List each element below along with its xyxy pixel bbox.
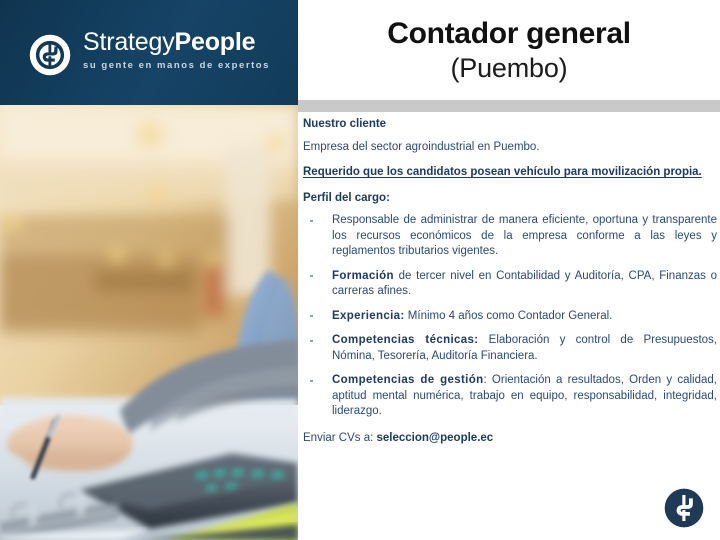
list-item-label: Competencias de gestión	[332, 374, 483, 386]
title-block: Contador general (Puembo)	[298, 0, 720, 100]
list-item: Experiencia: Mínimo 4 años como Contador…	[303, 309, 717, 325]
client-text: Empresa del sector agroindustrial en Pue…	[303, 140, 717, 155]
list-item: Competencias técnicas: Elaboración y con…	[303, 333, 717, 364]
footer-logo-icon	[663, 487, 705, 529]
brand-name-strategy: Strategy	[83, 28, 175, 56]
list-item-label: Formación	[332, 270, 394, 282]
client-heading: Nuestro cliente	[303, 117, 717, 131]
profile-heading: Perfil del cargo:	[303, 191, 717, 205]
brand-header-panel: StrategyPeople su gente en manos de expe…	[0, 0, 298, 105]
vehicle-requirement: Requerido que los candidatos posean vehí…	[303, 164, 717, 181]
job-details: Nuestro cliente Empresa del sector agroi…	[303, 117, 717, 532]
list-item-label: Competencias técnicas:	[332, 334, 478, 346]
page-subtitle: (Puembo)	[451, 52, 568, 85]
brand-wordmark: StrategyPeople su gente en manos de expe…	[83, 29, 298, 73]
brand-tagline: su gente en manos de expertos	[83, 60, 270, 71]
accounting-desk-photo	[0, 105, 298, 540]
brand-name: StrategyPeople	[83, 28, 255, 56]
brand-name-people: People	[175, 28, 256, 56]
contact-email[interactable]: seleccion@people.ec	[377, 432, 494, 444]
brand-logo: StrategyPeople su gente en manos de expe…	[0, 29, 298, 77]
list-item-label: Experiencia:	[332, 310, 405, 322]
send-cv-line: Enviar CVs a: seleccion@people.ec	[303, 431, 717, 446]
list-item: Responsable de administrar de manera efi…	[303, 213, 717, 260]
strategy-people-logo-icon	[28, 33, 72, 77]
page-title: Contador general	[387, 16, 631, 52]
list-item: Formación de tercer nivel en Contabilida…	[303, 269, 717, 300]
requirements-list: Responsable de administrar de manera efi…	[303, 213, 717, 420]
divider	[298, 100, 720, 112]
send-cv-prefix: Enviar CVs a:	[303, 432, 377, 444]
list-item-text: Responsable de administrar de manera efi…	[332, 214, 717, 257]
left-column: StrategyPeople su gente en manos de expe…	[0, 0, 298, 540]
job-posting-poster: StrategyPeople su gente en manos de expe…	[0, 0, 720, 540]
list-item-text: Mínimo 4 años como Contador General.	[405, 310, 613, 322]
list-item: Competencias de gestión: Orientación a r…	[303, 373, 717, 420]
